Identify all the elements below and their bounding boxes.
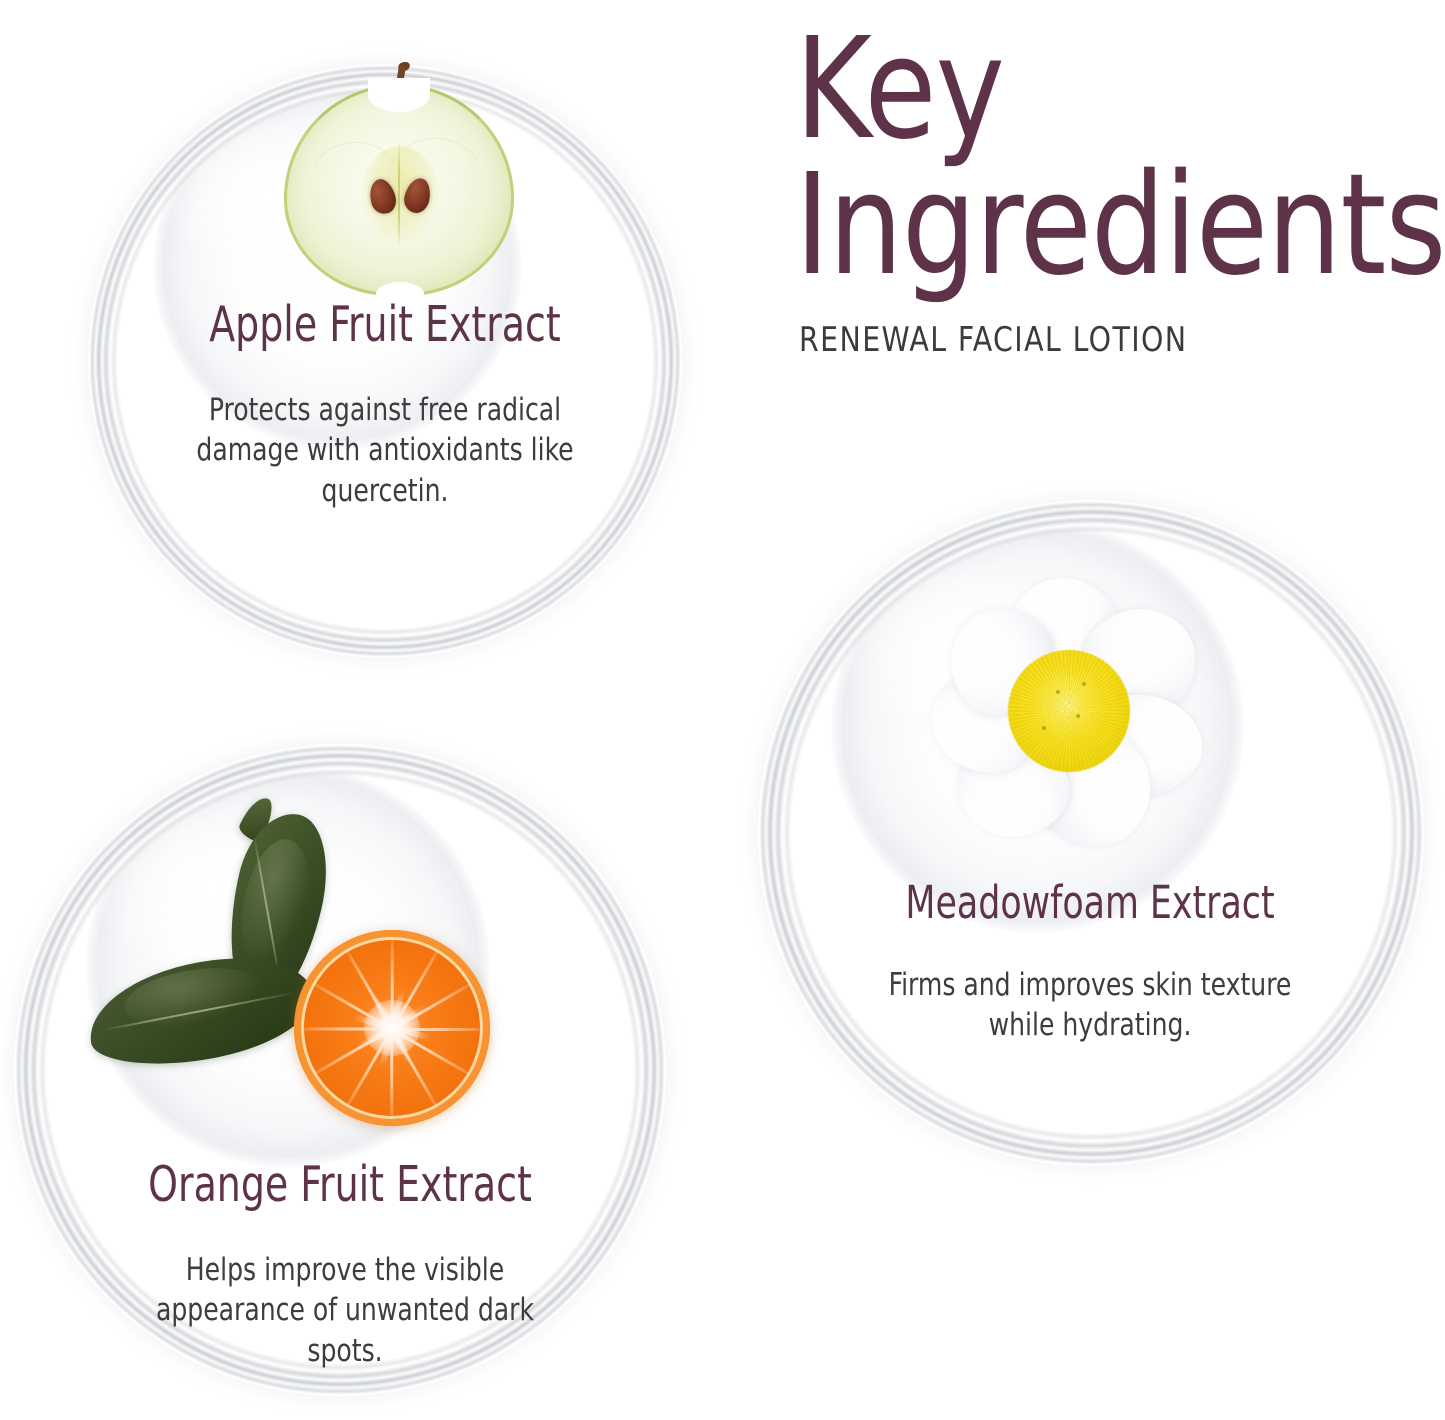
page-subtitle: RENEWAL FACIAL LOTION	[799, 320, 1372, 360]
disc-face-shading	[88, 64, 682, 658]
ingredient-disc-meadowfoam	[758, 500, 1424, 1166]
disc-rim-rings	[758, 500, 1424, 1166]
ingredient-title-apple: Apple Fruit Extract	[127, 300, 643, 350]
ingredient-title-orange: Orange Fruit Extract	[82, 1160, 598, 1210]
ingredient-description-meadowfoam: Firms and improves skin texture while hy…	[883, 965, 1297, 1046]
ingredient-description-apple: Protects against free radical damage wit…	[160, 390, 610, 511]
disc-highlight	[88, 64, 682, 658]
page-title: KeyIngredients	[795, 22, 1372, 294]
ingredient-title-meadowfoam: Meadowfoam Extract	[832, 880, 1348, 926]
disc-rim-rings	[88, 64, 682, 658]
header-block: KeyIngredients RENEWAL FACIAL LOTION	[795, 22, 1415, 360]
key-ingredients-infographic: Apple Fruit Extract Protects against fre…	[0, 0, 1445, 1420]
disc-highlight	[758, 500, 1424, 1166]
page-title-line-2: Ingredients	[795, 144, 1445, 307]
ingredient-disc-apple	[88, 64, 682, 658]
disc-face-shading	[758, 500, 1424, 1166]
ingredient-description-orange: Helps improve the visible appearance of …	[120, 1250, 570, 1371]
